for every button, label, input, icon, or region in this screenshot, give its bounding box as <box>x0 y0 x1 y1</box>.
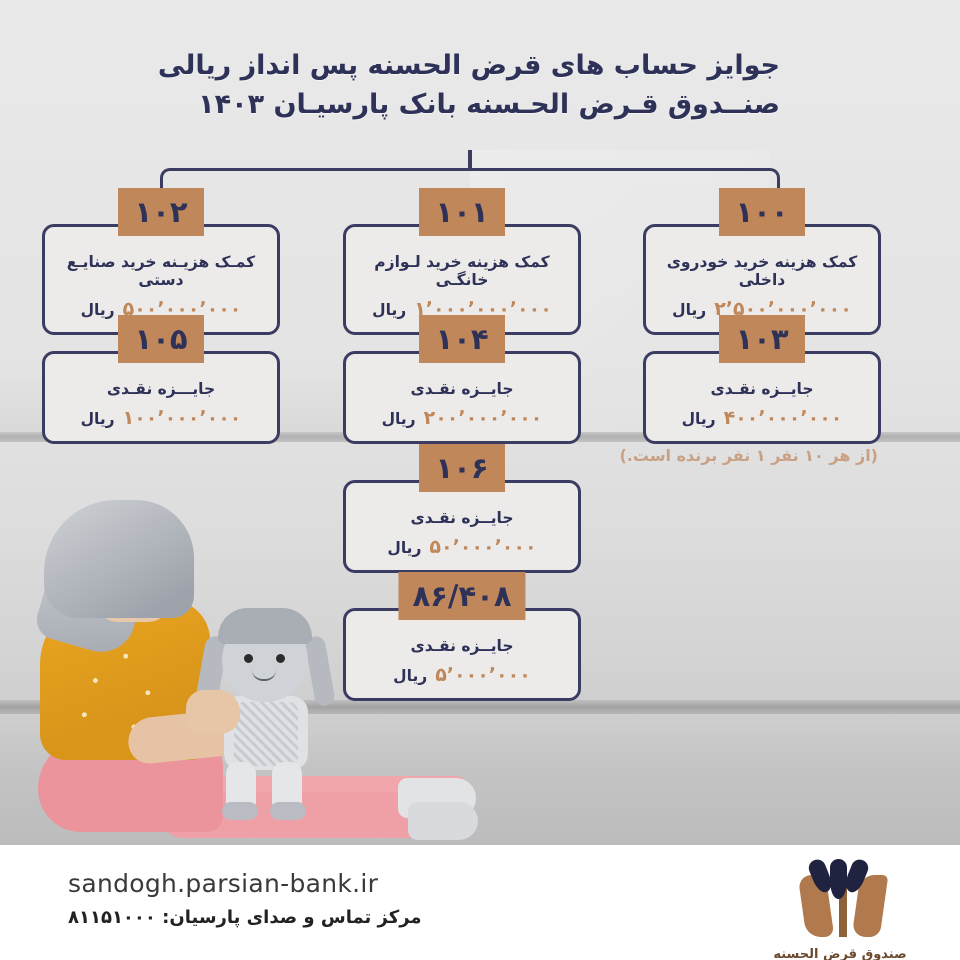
prize-code-103: ۱۰۳ <box>735 322 788 356</box>
doll-eye-left <box>244 654 253 663</box>
prize-currency-102: ریال <box>81 301 115 319</box>
prize-currency-101: ریال <box>372 301 406 319</box>
prize-amount-value-106: ۵۰٬۰۰۰٬۰۰۰ <box>429 536 536 558</box>
doll-hair <box>218 608 312 644</box>
prize-code-tab-101: ۱۰۱ <box>419 188 505 236</box>
prize-card-103: جایــزه نقـدی ۴۰۰٬۰۰۰٬۰۰۰ریال <box>643 351 881 444</box>
prize-desc-104: جایــزه نقـدی <box>356 380 568 398</box>
logo-petal-center <box>830 859 847 899</box>
prize-currency-103: ریال <box>682 410 716 428</box>
website-url[interactable]: sandogh.parsian-bank.ir <box>68 869 378 898</box>
prize-code-101: ۱۰۱ <box>435 195 488 229</box>
poster-root: جوایز حساب های قرض الحسنه پس انداز ریالی… <box>0 0 960 960</box>
title-line-1: جوایز حساب های قرض الحسنه پس انداز ریالی <box>158 46 780 85</box>
prize-amount-103: ۴۰۰٬۰۰۰٬۰۰۰ریال <box>656 407 868 429</box>
prize-code-tab-100: ۱۰۰ <box>719 188 805 236</box>
prize-code-100: ۱۰۰ <box>735 195 788 229</box>
prize-code-104: ۱۰۴ <box>435 322 488 356</box>
prize-code-tab-104: ۱۰۴ <box>419 315 505 363</box>
girl-headscarf <box>44 500 194 618</box>
prize-currency-104: ریال <box>382 410 416 428</box>
doll-foot-right <box>270 802 306 820</box>
winner-ratio-note: (از هر ۱۰ نفر ۱ نفر برنده است.) <box>619 446 878 465</box>
parsian-sandogh-logo: صندوق قرض الحسنه بانک پارسیان <box>756 853 926 960</box>
prize-amount-value-86-408: ۵٬۰۰۰٬۰۰۰ <box>435 664 531 686</box>
prize-card-104: جایــزه نقـدی ۲۰۰٬۰۰۰٬۰۰۰ریال <box>343 351 581 444</box>
prize-currency-105: ریال <box>81 410 115 428</box>
girl-sock-front <box>408 802 478 840</box>
prize-code-tab-102: ۱۰۲ <box>118 188 204 236</box>
prize-desc-86-408: جایــزه نقـدی <box>356 637 568 655</box>
doll-foot-left <box>222 802 258 820</box>
prize-code-tab-105: ۱۰۵ <box>118 315 204 363</box>
footer-bar: sandogh.parsian-bank.ir مرکز تماس و صدای… <box>0 845 960 960</box>
prize-code-102: ۱۰۲ <box>134 195 187 229</box>
prize-amount-105: ۱۰۰٬۰۰۰٬۰۰۰ریال <box>55 407 267 429</box>
prize-card-86-408: جایــزه نقـدی ۵٬۰۰۰٬۰۰۰ریال <box>343 608 581 701</box>
prize-code-86-408: ۸۶/۴۰۸ <box>412 579 511 613</box>
prize-amount-106: ۵۰٬۰۰۰٬۰۰۰ریال <box>356 536 568 558</box>
prize-desc-103: جایــزه نقـدی <box>656 380 868 398</box>
hands-holding-flower-icon <box>800 859 886 937</box>
prize-desc-105: جایـــزه نقـدی <box>55 380 267 398</box>
prize-code-106: ۱۰۶ <box>435 451 488 485</box>
prize-desc-102: کمـک هزیـنه خرید صنایـع دستی <box>55 253 267 289</box>
prize-currency-86-408: ریال <box>393 667 427 685</box>
girl-hand <box>186 690 240 734</box>
prize-card-105: جایـــزه نقـدی ۱۰۰٬۰۰۰٬۰۰۰ریال <box>42 351 280 444</box>
connector-root-stem <box>468 150 472 170</box>
doll-eye-right <box>276 654 285 663</box>
prize-code-tab-86-408: ۸۶/۴۰۸ <box>398 572 525 620</box>
prize-code-105: ۱۰۵ <box>134 322 187 356</box>
prize-amount-value-103: ۴۰۰٬۰۰۰٬۰۰۰ <box>724 407 843 429</box>
prize-currency-100: ریال <box>672 301 706 319</box>
prize-desc-100: کمک هزینه خرید خودروی داخلی <box>656 253 868 289</box>
prize-card-106: جایــزه نقـدی ۵۰٬۰۰۰٬۰۰۰ریال <box>343 480 581 573</box>
prize-amount-value-104: ۲۰۰٬۰۰۰٬۰۰۰ <box>424 407 543 429</box>
title-line-2: صنــدوق قـرض الحـسنه بانک پارسیـان ۱۴۰۳ <box>158 85 780 124</box>
prize-desc-101: کمک هزینه خرید لـوازم خانگـی <box>356 253 568 289</box>
prize-currency-106: ریال <box>387 539 421 557</box>
prize-amount-value-105: ۱۰۰٬۰۰۰٬۰۰۰ <box>123 407 242 429</box>
prize-desc-106: جایــزه نقـدی <box>356 509 568 527</box>
doll-braid-right <box>304 635 336 707</box>
page-title: جوایز حساب های قرض الحسنه پس انداز ریالی… <box>158 46 780 124</box>
call-center-phone: مرکز تماس و صدای پارسیان: ۸۱۱۵۱۰۰۰ <box>68 907 422 928</box>
logo-wordmark: صندوق قرض الحسنه بانک پارسیان <box>760 947 920 960</box>
prize-amount-86-408: ۵٬۰۰۰٬۰۰۰ریال <box>356 664 568 686</box>
prize-amount-104: ۲۰۰٬۰۰۰٬۰۰۰ریال <box>356 407 568 429</box>
prize-code-tab-103: ۱۰۳ <box>719 315 805 363</box>
prize-code-tab-106: ۱۰۶ <box>419 444 505 492</box>
